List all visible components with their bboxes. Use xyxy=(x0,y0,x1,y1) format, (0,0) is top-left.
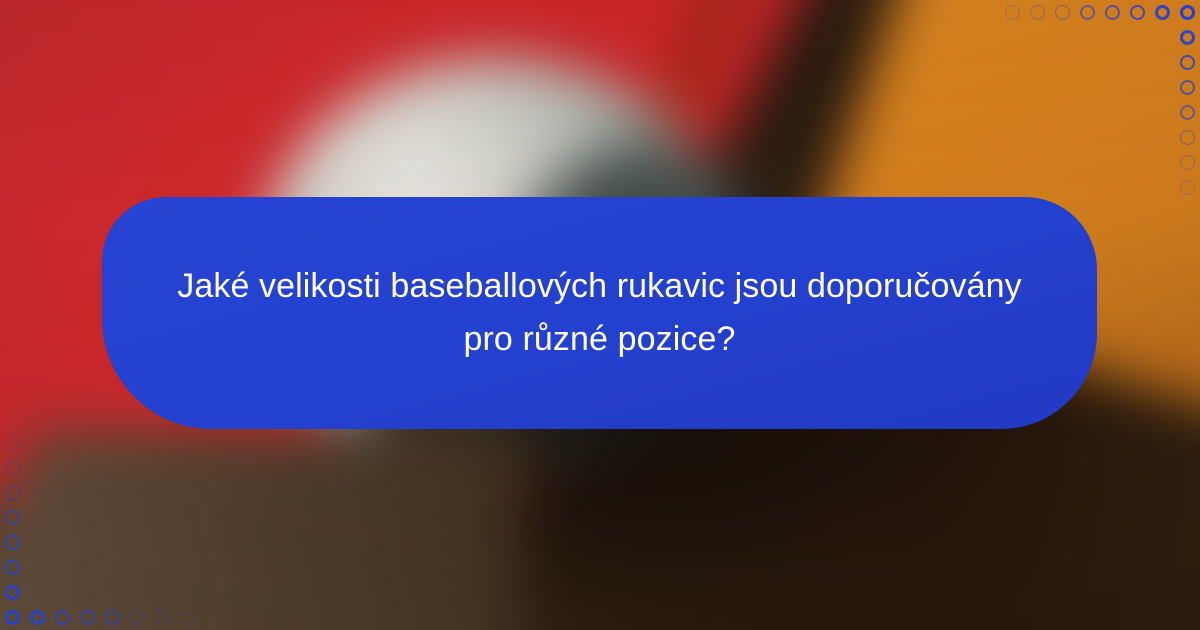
question-text: Jaké velikosti baseballových rukavic jso… xyxy=(172,260,1027,365)
question-card: Jaké velikosti baseballových rukavic jso… xyxy=(102,197,1097,429)
og-image-card: Jaké velikosti baseballových rukavic jso… xyxy=(0,0,1200,630)
